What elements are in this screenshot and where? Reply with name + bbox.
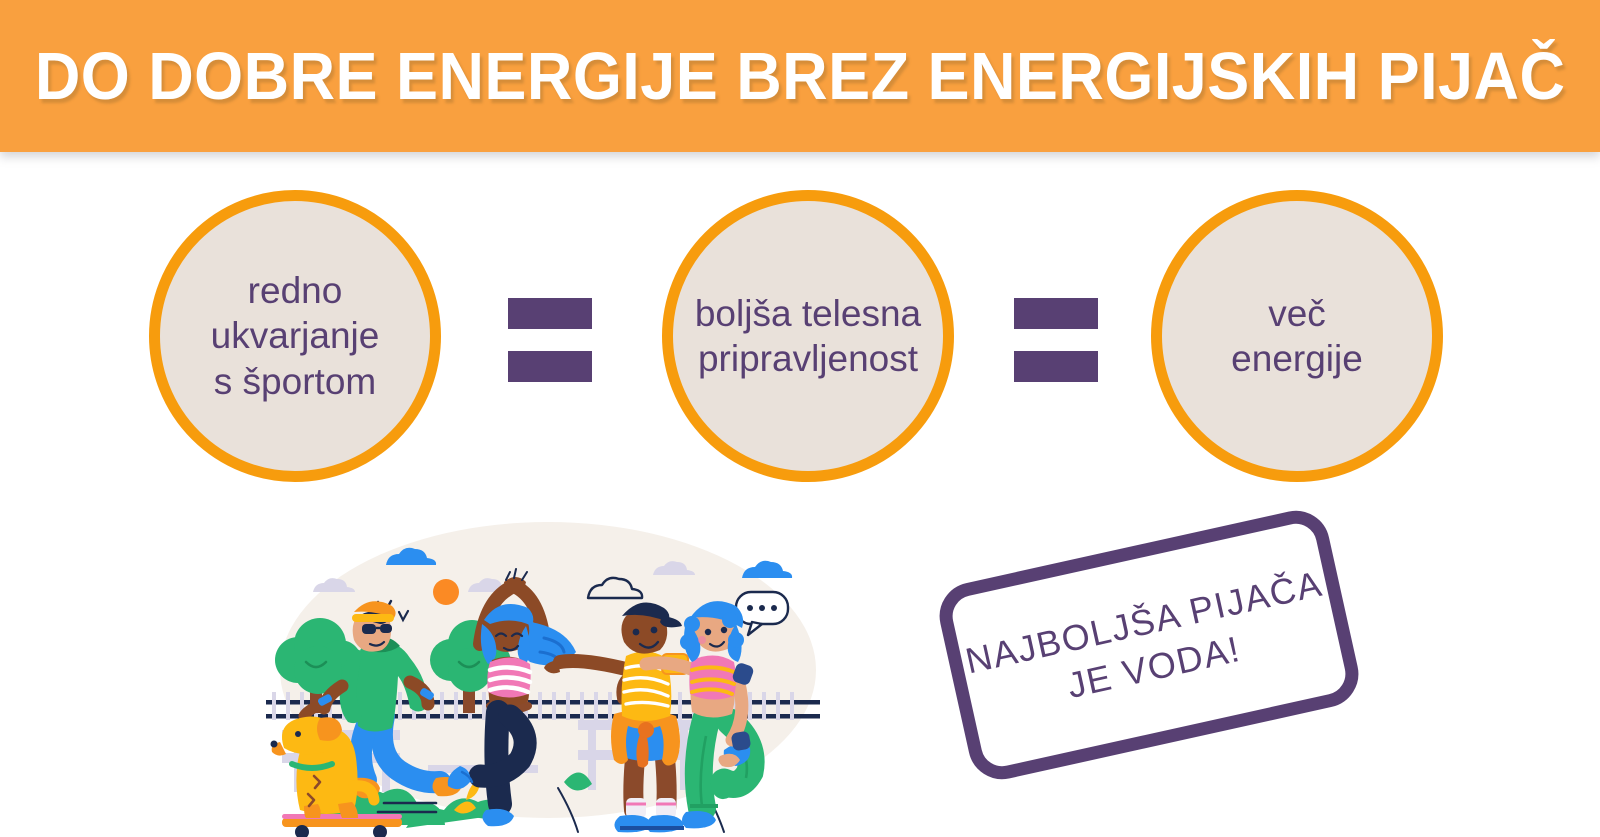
equals-bar-bottom: [508, 351, 592, 382]
equation-circle-3-label: več energije: [1162, 291, 1432, 381]
equals-bar-bottom: [1014, 351, 1098, 382]
equation-circle-3: več energije: [1151, 190, 1443, 482]
equation-circle-2-label: boljša telesna pripravljenost: [673, 291, 943, 381]
equals-bar-top: [508, 298, 592, 329]
equation-circle-1-label: redno ukvarjanje s športom: [160, 268, 430, 403]
equals-bar-top: [1014, 298, 1098, 329]
header-banner: DO DOBRE ENERGIJE BREZ ENERGIJSKIH PIJAČ: [0, 0, 1600, 152]
page-title: DO DOBRE ENERGIJE BREZ ENERGIJSKIH PIJAČ: [7, 43, 1594, 110]
equation-circle-2: boljša telesna pripravljenost: [662, 190, 954, 482]
equation-circle-1: redno ukvarjanje s športom: [149, 190, 441, 482]
equation-row: redno ukvarjanje s športom boljša telesn…: [0, 190, 1600, 490]
stamp-label: NAJBOLJŠA PIJAČA JE VODA!: [961, 561, 1336, 730]
poster-root: DO DOBRE ENERGIJE BREZ ENERGIJSKIH PIJAČ…: [0, 0, 1600, 837]
equals-sign-2: [1014, 298, 1098, 382]
stamp-badge: NAJBOLJŠA PIJAČA JE VODA!: [933, 504, 1365, 785]
equals-sign-1: [508, 298, 592, 382]
park-exercise-illustration: [258, 520, 828, 837]
